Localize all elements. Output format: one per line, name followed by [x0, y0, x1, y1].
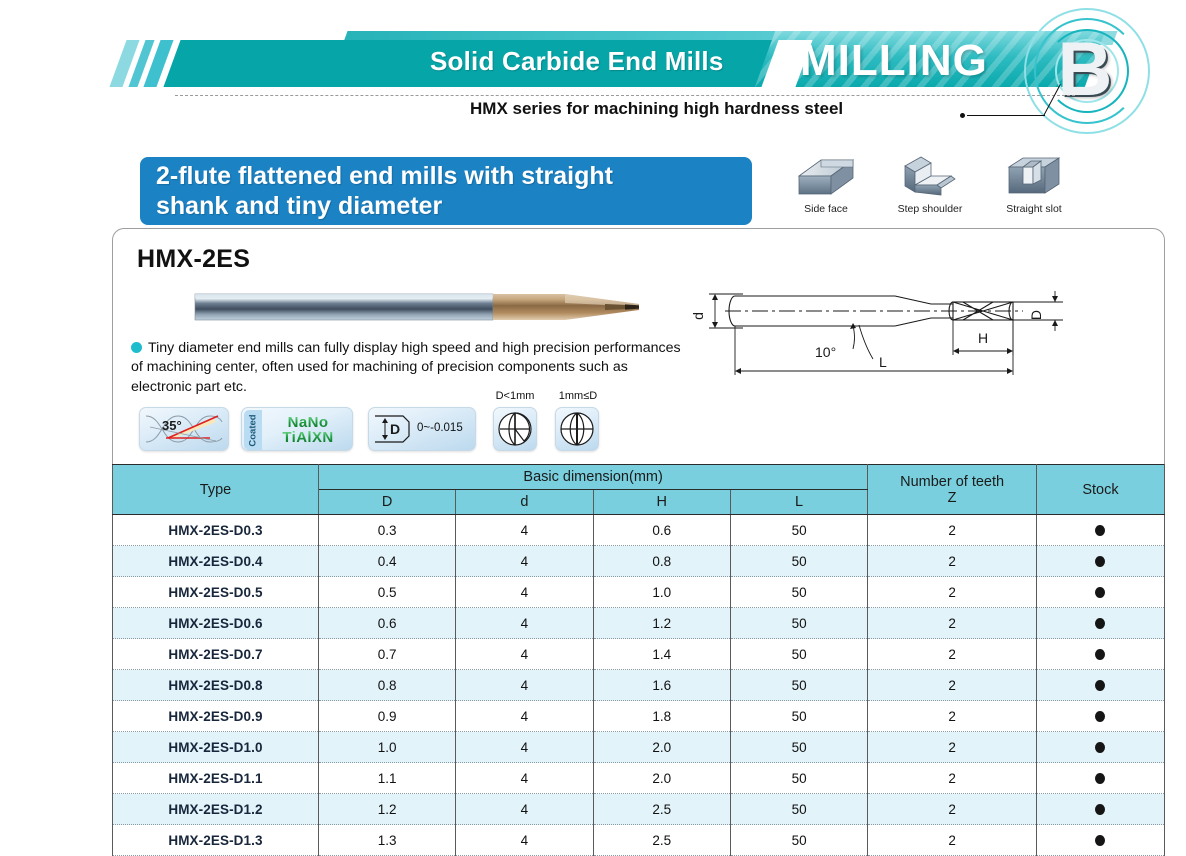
table-row: HMX-2ES-D1.01.042.0502: [113, 732, 1165, 763]
cell-flute-H: 2.0: [593, 763, 730, 794]
cell-stock: [1036, 825, 1164, 856]
cell-shank-d: 4: [456, 670, 593, 701]
cell-stock: [1036, 515, 1164, 546]
cell-type: HMX-2ES-D1.3: [113, 825, 319, 856]
cell-type: HMX-2ES-D0.9: [113, 701, 319, 732]
table-row: HMX-2ES-D0.70.741.4502: [113, 639, 1165, 670]
cell-shank-d: 4: [456, 701, 593, 732]
teeth-line-1: Number of teeth: [900, 474, 1004, 490]
cell-shank-d: 4: [456, 608, 593, 639]
stock-dot-icon: [1095, 587, 1105, 598]
stock-dot-icon: [1095, 525, 1105, 536]
endview-large-badge: [555, 407, 599, 451]
product-title-banner: 2-flute flattened end mills with straigh…: [140, 157, 752, 225]
cell-diameter-D: 0.6: [318, 608, 455, 639]
cell-type: HMX-2ES-D0.3: [113, 515, 319, 546]
stock-dot-icon: [1095, 680, 1105, 691]
endview-small-badge: [493, 407, 537, 451]
cell-stock: [1036, 794, 1164, 825]
cell-flute-H: 2.5: [593, 794, 730, 825]
cell-shank-d: 4: [456, 577, 593, 608]
table-row: HMX-2ES-D0.60.641.2502: [113, 608, 1165, 639]
drawing-label-angle: 10°: [815, 344, 836, 360]
cell-length-L: 50: [730, 608, 867, 639]
cell-diameter-D: 0.7: [318, 639, 455, 670]
cell-shank-d: 4: [456, 546, 593, 577]
table-row: HMX-2ES-D0.30.340.6502: [113, 515, 1165, 546]
cell-teeth-Z: 2: [868, 670, 1037, 701]
side-face-icon: [790, 152, 862, 200]
stock-dot-icon: [1095, 711, 1105, 722]
cell-type: HMX-2ES-D0.4: [113, 546, 319, 577]
cell-stock: [1036, 577, 1164, 608]
cell-stock: [1036, 608, 1164, 639]
cell-length-L: 50: [730, 546, 867, 577]
catalog-page: Solid Carbide End Mills MILLING B HMX se…: [0, 0, 1186, 832]
drawing-label-d: d: [690, 312, 706, 320]
cell-type: HMX-2ES-D0.8: [113, 670, 319, 701]
table-header: Type Basic dimension(mm) Number of teeth…: [113, 465, 1165, 515]
cell-length-L: 50: [730, 670, 867, 701]
cell-diameter-D: 1.3: [318, 825, 455, 856]
cell-teeth-Z: 2: [868, 515, 1037, 546]
tolerance-value: 0~-0.015: [417, 422, 463, 434]
product-title-line1: 2-flute flattened end mills with straigh…: [156, 162, 613, 190]
tolerance-badge: D 0~-0.015: [368, 407, 476, 451]
table-row: HMX-2ES-D1.11.142.0502: [113, 763, 1165, 794]
coated-label: Coated: [248, 414, 259, 446]
endview-large-label: 1mm≤D: [549, 390, 607, 402]
endview-small-label: D<1mm: [487, 390, 543, 402]
cell-teeth-Z: 2: [868, 763, 1037, 794]
cell-stock: [1036, 701, 1164, 732]
teeth-line-2: Z: [948, 490, 957, 506]
cell-length-L: 50: [730, 701, 867, 732]
cell-diameter-D: 0.3: [318, 515, 455, 546]
cell-stock: [1036, 763, 1164, 794]
cell-diameter-D: 0.8: [318, 670, 455, 701]
cell-diameter-D: 0.5: [318, 577, 455, 608]
table-row: HMX-2ES-D0.40.440.8502: [113, 546, 1165, 577]
column-header-teeth: Number of teeth Z: [868, 465, 1037, 515]
product-model: HMX-2ES: [137, 245, 250, 274]
cell-flute-H: 2.0: [593, 732, 730, 763]
cell-length-L: 50: [730, 515, 867, 546]
drawing-label-l: L: [879, 354, 887, 370]
cell-shank-d: 4: [456, 763, 593, 794]
header-subtitle: HMX series for machining high hardness s…: [470, 99, 843, 119]
operation-straight-slot: Straight slot: [998, 152, 1070, 224]
cell-flute-H: 2.5: [593, 825, 730, 856]
cell-type: HMX-2ES-D0.7: [113, 639, 319, 670]
stock-dot-icon: [1095, 804, 1105, 815]
product-title: 2-flute flattened end mills with straigh…: [156, 161, 613, 222]
cell-diameter-D: 1.0: [318, 732, 455, 763]
cell-length-L: 50: [730, 794, 867, 825]
cell-teeth-Z: 2: [868, 608, 1037, 639]
coated-tab: Coated: [244, 410, 262, 450]
cell-flute-H: 1.2: [593, 608, 730, 639]
coating-badge: Coated NaNo TiAlXN: [241, 407, 353, 451]
section-tab-badge: B: [1022, 6, 1148, 132]
table-row: HMX-2ES-D0.80.841.6502: [113, 670, 1165, 701]
cell-flute-H: 1.0: [593, 577, 730, 608]
specification-table: Type Basic dimension(mm) Number of teeth…: [112, 464, 1165, 856]
product-photo: [193, 285, 653, 329]
column-header-H: H: [593, 490, 730, 515]
stock-dot-icon: [1095, 742, 1105, 753]
cell-type: HMX-2ES-D0.6: [113, 608, 319, 639]
cell-teeth-Z: 2: [868, 825, 1037, 856]
cell-shank-d: 4: [456, 794, 593, 825]
technical-drawing: d D H: [663, 263, 1133, 381]
cell-flute-H: 1.8: [593, 701, 730, 732]
cell-diameter-D: 1.2: [318, 794, 455, 825]
step-shoulder-icon: [894, 152, 966, 200]
helix-angle-badge: 35°: [139, 407, 229, 451]
cell-teeth-Z: 2: [868, 701, 1037, 732]
spec-badges: 35° Coated NaNo TiAlXN D: [131, 397, 601, 459]
cell-teeth-Z: 2: [868, 577, 1037, 608]
coating-line-1: NaNo: [288, 415, 329, 430]
cell-flute-H: 1.6: [593, 670, 730, 701]
header-category: MILLING: [800, 36, 988, 86]
stock-dot-icon: [1095, 649, 1105, 660]
bullet-icon: [131, 342, 142, 353]
cell-type: HMX-2ES-D0.5: [113, 577, 319, 608]
table-row: HMX-2ES-D0.90.941.8502: [113, 701, 1165, 732]
column-header-type: Type: [113, 465, 319, 515]
cell-teeth-Z: 2: [868, 639, 1037, 670]
cell-length-L: 50: [730, 577, 867, 608]
column-header-D: D: [318, 490, 455, 515]
header-title: Solid Carbide End Mills: [430, 46, 724, 77]
cell-shank-d: 4: [456, 732, 593, 763]
product-title-line2: shank and tiny diameter: [156, 192, 442, 220]
operation-step-shoulder: Step shoulder: [894, 152, 966, 224]
operation-side-face: Side face: [790, 152, 862, 224]
tolerance-symbol: D: [390, 421, 400, 437]
cell-teeth-Z: 2: [868, 732, 1037, 763]
cell-flute-H: 0.8: [593, 546, 730, 577]
cell-type: HMX-2ES-D1.1: [113, 763, 319, 794]
table-body: HMX-2ES-D0.30.340.6502HMX-2ES-D0.40.440.…: [113, 515, 1165, 856]
table-row: HMX-2ES-D0.50.541.0502: [113, 577, 1165, 608]
column-header-L: L: [730, 490, 867, 515]
cell-teeth-Z: 2: [868, 546, 1037, 577]
table-row: HMX-2ES-D1.31.342.5502: [113, 825, 1165, 856]
stock-dot-icon: [1095, 618, 1105, 629]
drawing-label-cut-dia: D: [1028, 310, 1044, 320]
cell-type: HMX-2ES-D1.0: [113, 732, 319, 763]
stock-dot-icon: [1095, 773, 1105, 784]
column-header-d: d: [456, 490, 593, 515]
coating-line-2: TiAlXN: [282, 430, 333, 445]
header-divider: [175, 95, 1075, 96]
column-header-stock: Stock: [1036, 465, 1164, 515]
cell-diameter-D: 0.4: [318, 546, 455, 577]
cell-diameter-D: 1.1: [318, 763, 455, 794]
straight-slot-icon: [998, 152, 1070, 200]
stock-dot-icon: [1095, 556, 1105, 567]
cell-stock: [1036, 732, 1164, 763]
product-description-text: Tiny diameter end mills can fully displa…: [131, 340, 681, 395]
operation-label: Side face: [790, 203, 862, 215]
product-description: Tiny diameter end mills can fully displa…: [131, 339, 691, 397]
subtitle-leader-line: [967, 115, 1045, 116]
subtitle-leader-dot: [960, 113, 965, 118]
cell-flute-H: 1.4: [593, 639, 730, 670]
helix-angle-value: 35°: [162, 418, 182, 433]
coating-name: NaNo TiAlXN: [264, 411, 352, 449]
operation-label: Straight slot: [998, 203, 1070, 215]
operation-icons: Side face Step shoulde: [790, 152, 1080, 224]
section-tab-letter: B: [1022, 6, 1148, 132]
cell-flute-H: 0.6: [593, 515, 730, 546]
stock-dot-icon: [1095, 835, 1105, 846]
cell-shank-d: 4: [456, 515, 593, 546]
cell-length-L: 50: [730, 825, 867, 856]
cell-length-L: 50: [730, 639, 867, 670]
table-row: HMX-2ES-D1.21.242.5502: [113, 794, 1165, 825]
page-header: Solid Carbide End Mills MILLING B HMX se…: [0, 0, 1186, 140]
cell-stock: [1036, 670, 1164, 701]
cell-shank-d: 4: [456, 639, 593, 670]
cell-diameter-D: 0.9: [318, 701, 455, 732]
operation-label: Step shoulder: [894, 203, 966, 215]
drawing-label-h: H: [978, 330, 988, 346]
cell-length-L: 50: [730, 732, 867, 763]
cell-length-L: 50: [730, 763, 867, 794]
cell-stock: [1036, 639, 1164, 670]
cell-type: HMX-2ES-D1.2: [113, 794, 319, 825]
cell-shank-d: 4: [456, 825, 593, 856]
cell-stock: [1036, 546, 1164, 577]
cell-teeth-Z: 2: [868, 794, 1037, 825]
column-header-group: Basic dimension(mm): [318, 465, 867, 490]
